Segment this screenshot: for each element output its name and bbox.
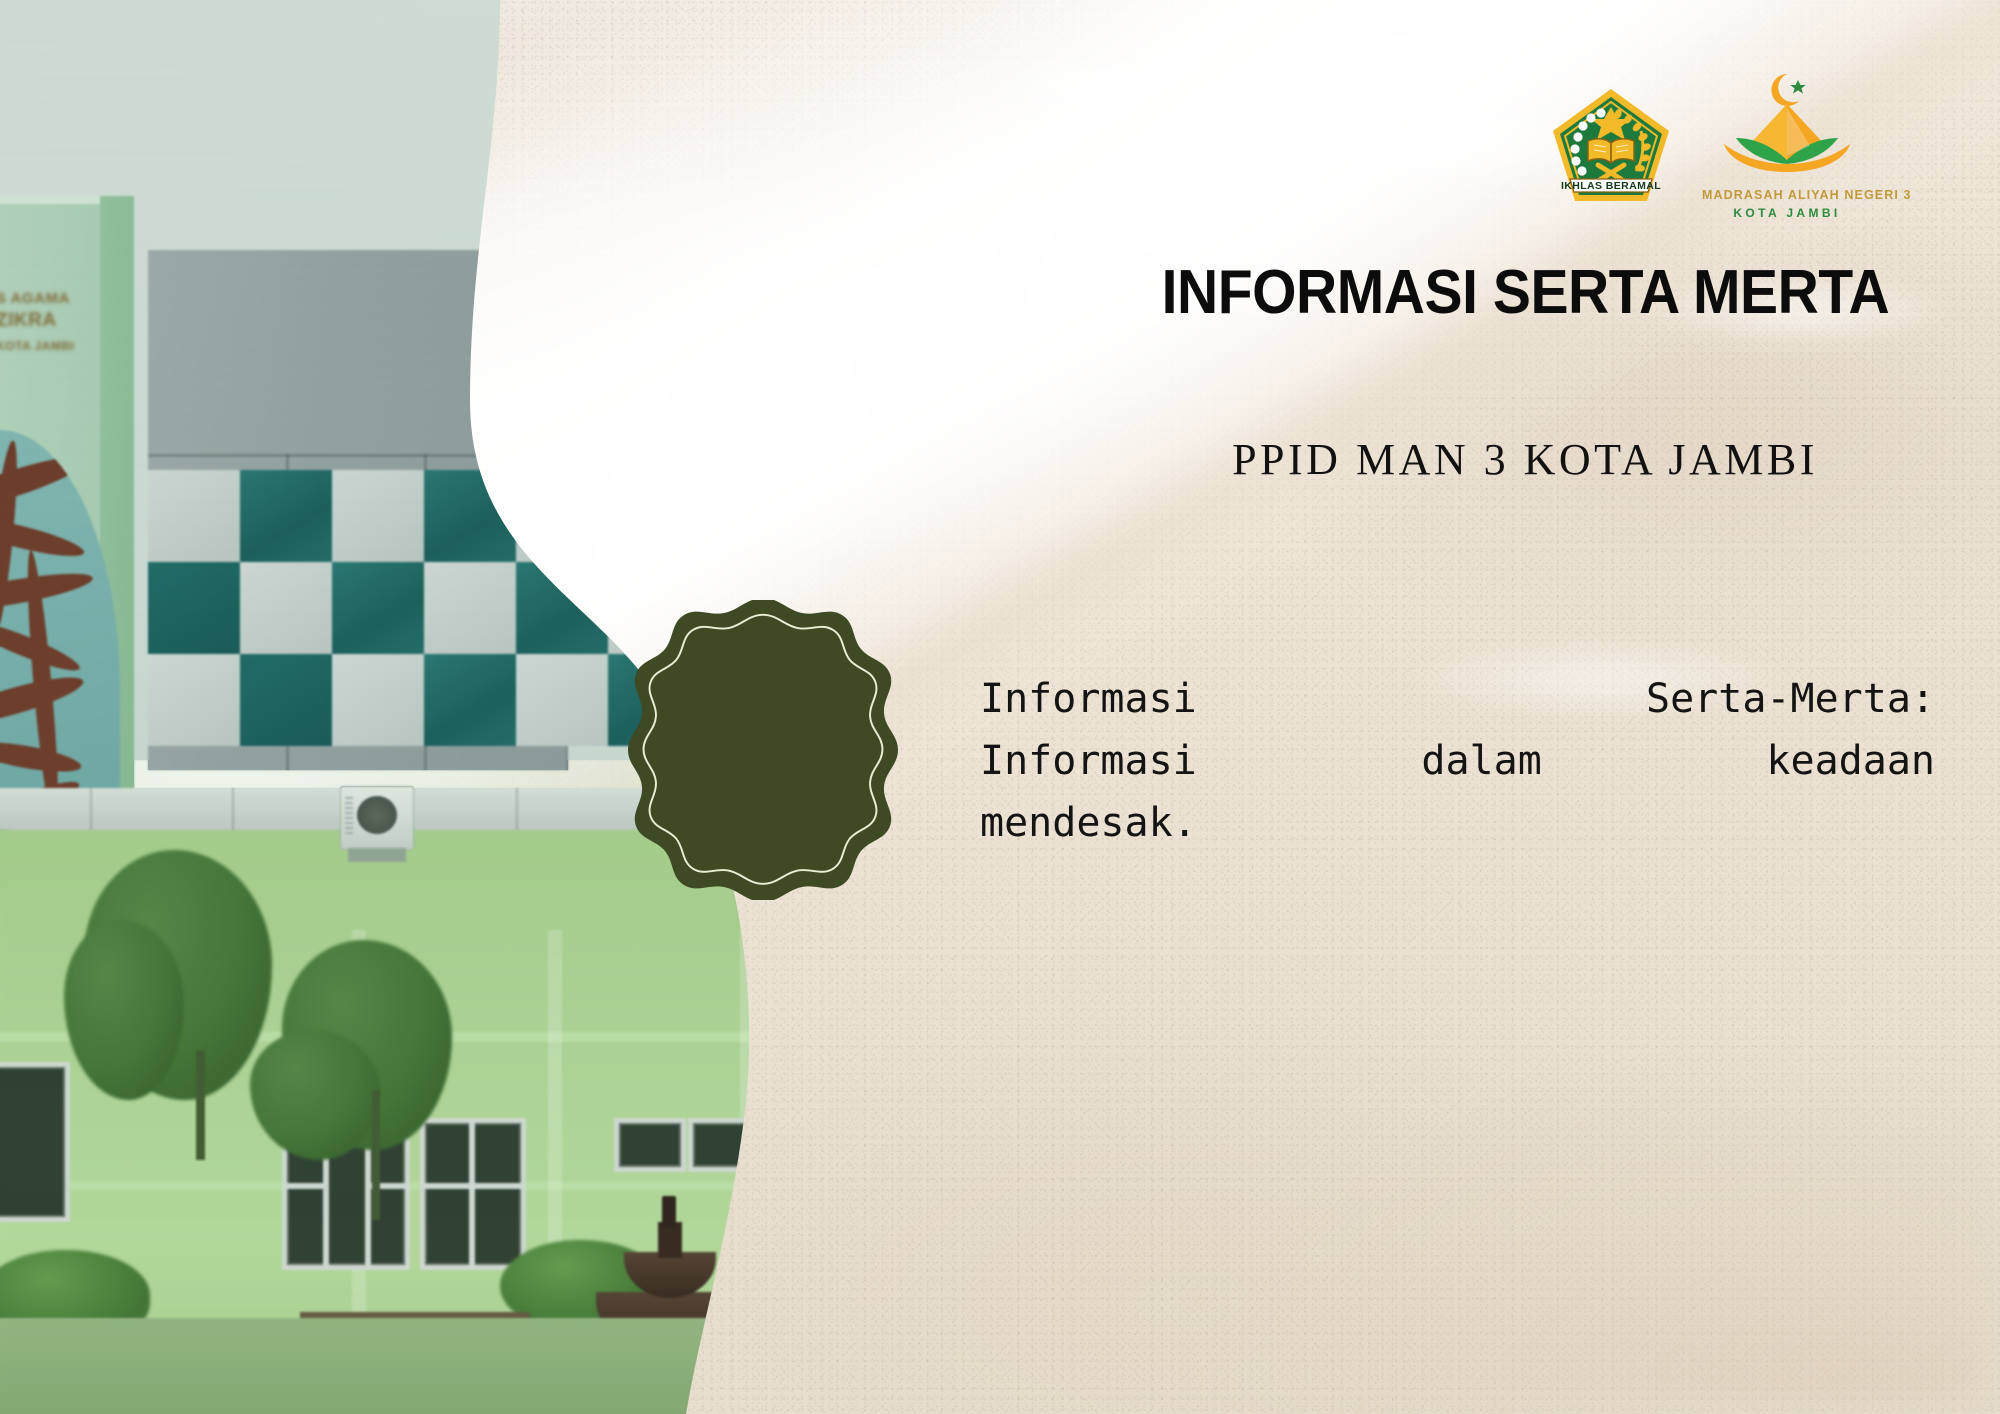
body-text: Informasi Serta-Merta: Informasi dalam k… — [980, 668, 1935, 854]
man3-logo-line1: MADRASAH ALIYAH NEGERI 3 — [1702, 188, 1872, 202]
body-line-1-text: Informasi Serta-Merta: — [980, 668, 1935, 730]
body-line-3: mendesak. — [980, 792, 1935, 854]
man3-logo-line2: KOTA JAMBI — [1702, 206, 1872, 220]
man3-logo: MADRASAH ALIYAH NEGERI 3 KOTA JAMBI — [1702, 68, 1872, 228]
scalloped-badge — [613, 600, 913, 900]
body-line-2-text: Informasi dalam keadaan — [980, 730, 1935, 792]
poster-canvas: S AGAMA ZIKRA KOTA JAMBI — [0, 0, 2000, 1414]
kemenag-motto: IKHLAS BERAMAL — [1561, 180, 1661, 192]
body-line-3-text: mendesak. — [980, 800, 1197, 846]
page-title: INFORMASI SERTA MERTA — [1162, 262, 1889, 324]
page-subtitle: PPID MAN 3 KOTA JAMBI — [1130, 438, 1920, 482]
body-line-2: Informasi dalam keadaan — [980, 730, 1935, 792]
body-line-1: Informasi Serta-Merta: — [980, 668, 1935, 730]
logo-row: IKHLAS BERAMAL MADRASAH ALIYAH NEGERI 3 … — [1548, 62, 1920, 234]
kemenag-logo: IKHLAS BERAMAL — [1548, 85, 1674, 211]
man3-logo-mark — [1702, 68, 1872, 190]
